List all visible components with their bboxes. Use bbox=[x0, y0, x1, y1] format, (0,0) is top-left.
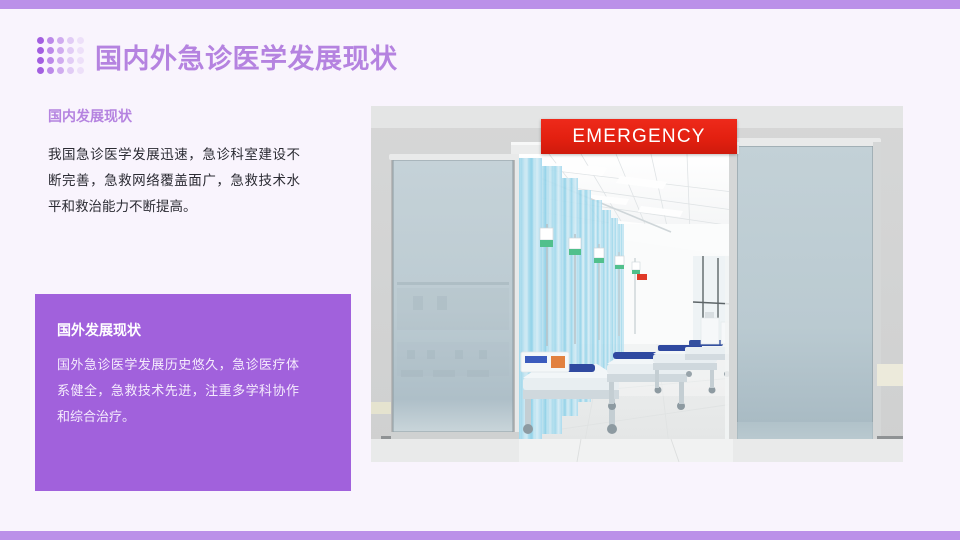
slide-root: 国内外急诊医学发展现状 国内发展现状 我国急诊医学发展迅速，急诊科室建设不断完善… bbox=[0, 0, 960, 540]
hospital-scene-illustration bbox=[371, 106, 903, 462]
top-accent-bar bbox=[0, 0, 960, 9]
hospital-emergency-photo: EMERGENCY bbox=[371, 106, 903, 462]
overseas-heading: 国外发展现状 bbox=[57, 320, 327, 340]
overseas-body: 国外急诊医学发展历史悠久，急诊医疗体系健全，急救技术先进，注重多学科协作和综合治… bbox=[57, 352, 299, 430]
bottom-accent-bar bbox=[0, 531, 960, 540]
slide-header: 国内外急诊医学发展现状 bbox=[0, 16, 960, 72]
page-title: 国内外急诊医学发展现状 bbox=[95, 40, 398, 78]
emergency-sign-label: EMERGENCY bbox=[572, 126, 705, 148]
emergency-sign: EMERGENCY bbox=[541, 119, 737, 154]
domestic-body: 我国急诊医学发展迅速，急诊科室建设不断完善，急救网络覆盖面广，急救技术水平和救治… bbox=[48, 142, 300, 220]
domestic-heading: 国内发展现状 bbox=[48, 106, 355, 126]
domestic-section: 国内发展现状 我国急诊医学发展迅速，急诊科室建设不断完善，急救网络覆盖面广，急救… bbox=[35, 106, 355, 220]
dot-grid-icon bbox=[37, 37, 87, 77]
overseas-card: 国外发展现状 国外急诊医学发展历史悠久，急诊医疗体系健全，急救技术先进，注重多学… bbox=[35, 294, 351, 491]
